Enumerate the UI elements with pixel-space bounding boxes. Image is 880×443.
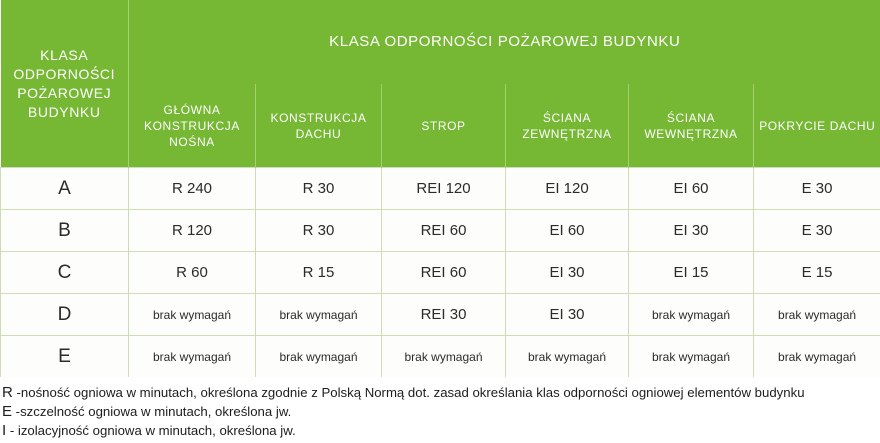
row-class-label: D: [1, 294, 129, 336]
legend-note-i: I - izolacyjność ogniowa w minutach, okr…: [2, 421, 880, 440]
cell-value: REI 60: [382, 210, 506, 252]
cell-value: brak wymagań: [506, 336, 629, 378]
cell-value: E 15: [754, 252, 880, 294]
cell-value: EI 30: [506, 252, 629, 294]
group-header-label: KLASA ODPORNOŚCI POŻAROWEJ BUDYNKU: [129, 0, 880, 84]
cell-value: brak wymagań: [382, 336, 506, 378]
header-row-sub: GŁÓWNA KONSTRUKCJA NOŚNA KONSTRUKCJA DAC…: [1, 84, 880, 168]
cell-value: brak wymagań: [629, 294, 754, 336]
row-header-label: KLASA ODPORNOŚCI POŻAROWEJ BUDYNKU: [1, 0, 129, 168]
row-class-label: E: [1, 336, 129, 378]
table-row: C R 60 R 15 REI 60 EI 30 EI 15 E 15: [1, 252, 880, 294]
cell-value: EI 30: [629, 210, 754, 252]
legend-symbol-e: E: [2, 403, 12, 420]
cell-value: R 15: [256, 252, 382, 294]
column-header-pokrycie-dachu: POKRYCIE DACHU: [754, 84, 880, 168]
cell-value: E 30: [754, 168, 880, 210]
column-header-strop: STROP: [382, 84, 506, 168]
cell-value: brak wymagań: [129, 336, 256, 378]
cell-value: E 30: [754, 210, 880, 252]
cell-value: brak wymagań: [754, 294, 880, 336]
cell-value: R 60: [129, 252, 256, 294]
fire-resistance-table: KLASA ODPORNOŚCI POŻAROWEJ BUDYNKU KLASA…: [0, 0, 880, 377]
table-body: A R 240 R 30 REI 120 EI 120 EI 60 E 30 B…: [1, 168, 880, 378]
cell-value: brak wymagań: [256, 336, 382, 378]
legend-text-i: - izolacyjność ogniowa w minutach, okreś…: [6, 423, 296, 438]
column-header-glowna-konstrukcja-nosna: GŁÓWNA KONSTRUKCJA NOŚNA: [129, 84, 256, 168]
row-class-label: B: [1, 210, 129, 252]
column-header-sciana-wewnetrzna: ŚCIANA WEWNĘTRZNA: [629, 84, 754, 168]
table-row: D brak wymagań brak wymagań REI 30 EI 30…: [1, 294, 880, 336]
header-row-top: KLASA ODPORNOŚCI POŻAROWEJ BUDYNKU KLASA…: [1, 0, 880, 84]
cell-value: REI 60: [382, 252, 506, 294]
legend-text-r: -nośność ogniowa w minutach, określona z…: [13, 385, 805, 400]
legend-text-e: -szczelność ogniowa w minutach, określon…: [12, 404, 291, 419]
cell-value: EI 60: [506, 210, 629, 252]
row-class-label: C: [1, 252, 129, 294]
fire-resistance-class-sheet: KLASA ODPORNOŚCI POŻAROWEJ BUDYNKU KLASA…: [0, 0, 880, 443]
legend-note-e: E -szczelność ogniowa w minutach, określ…: [2, 402, 880, 421]
cell-value: EI 15: [629, 252, 754, 294]
table-row: E brak wymagań brak wymagań brak wymagań…: [1, 336, 880, 378]
cell-value: REI 120: [382, 168, 506, 210]
cell-value: REI 30: [382, 294, 506, 336]
cell-value: R 120: [129, 210, 256, 252]
table-row: B R 120 R 30 REI 60 EI 60 EI 30 E 30: [1, 210, 880, 252]
cell-value: brak wymagań: [129, 294, 256, 336]
cell-value: R 30: [256, 168, 382, 210]
table-header: KLASA ODPORNOŚCI POŻAROWEJ BUDYNKU KLASA…: [1, 0, 880, 168]
cell-value: brak wymagań: [256, 294, 382, 336]
cell-value: R 240: [129, 168, 256, 210]
cell-value: brak wymagań: [754, 336, 880, 378]
cell-value: EI 120: [506, 168, 629, 210]
cell-value: brak wymagań: [629, 336, 754, 378]
legend-symbol-r: R: [2, 384, 13, 401]
cell-value: R 30: [256, 210, 382, 252]
legend-notes: R -nośność ogniowa w minutach, określona…: [0, 377, 880, 440]
table-row: A R 240 R 30 REI 120 EI 120 EI 60 E 30: [1, 168, 880, 210]
cell-value: EI 60: [629, 168, 754, 210]
column-header-sciana-zewnetrzna: ŚCIANA ZEWNĘTRZNA: [506, 84, 629, 168]
column-header-konstrukcja-dachu: KONSTRUKCJA DACHU: [256, 84, 382, 168]
cell-value: EI 30: [506, 294, 629, 336]
legend-note-r: R -nośność ogniowa w minutach, określona…: [2, 383, 880, 402]
row-class-label: A: [1, 168, 129, 210]
